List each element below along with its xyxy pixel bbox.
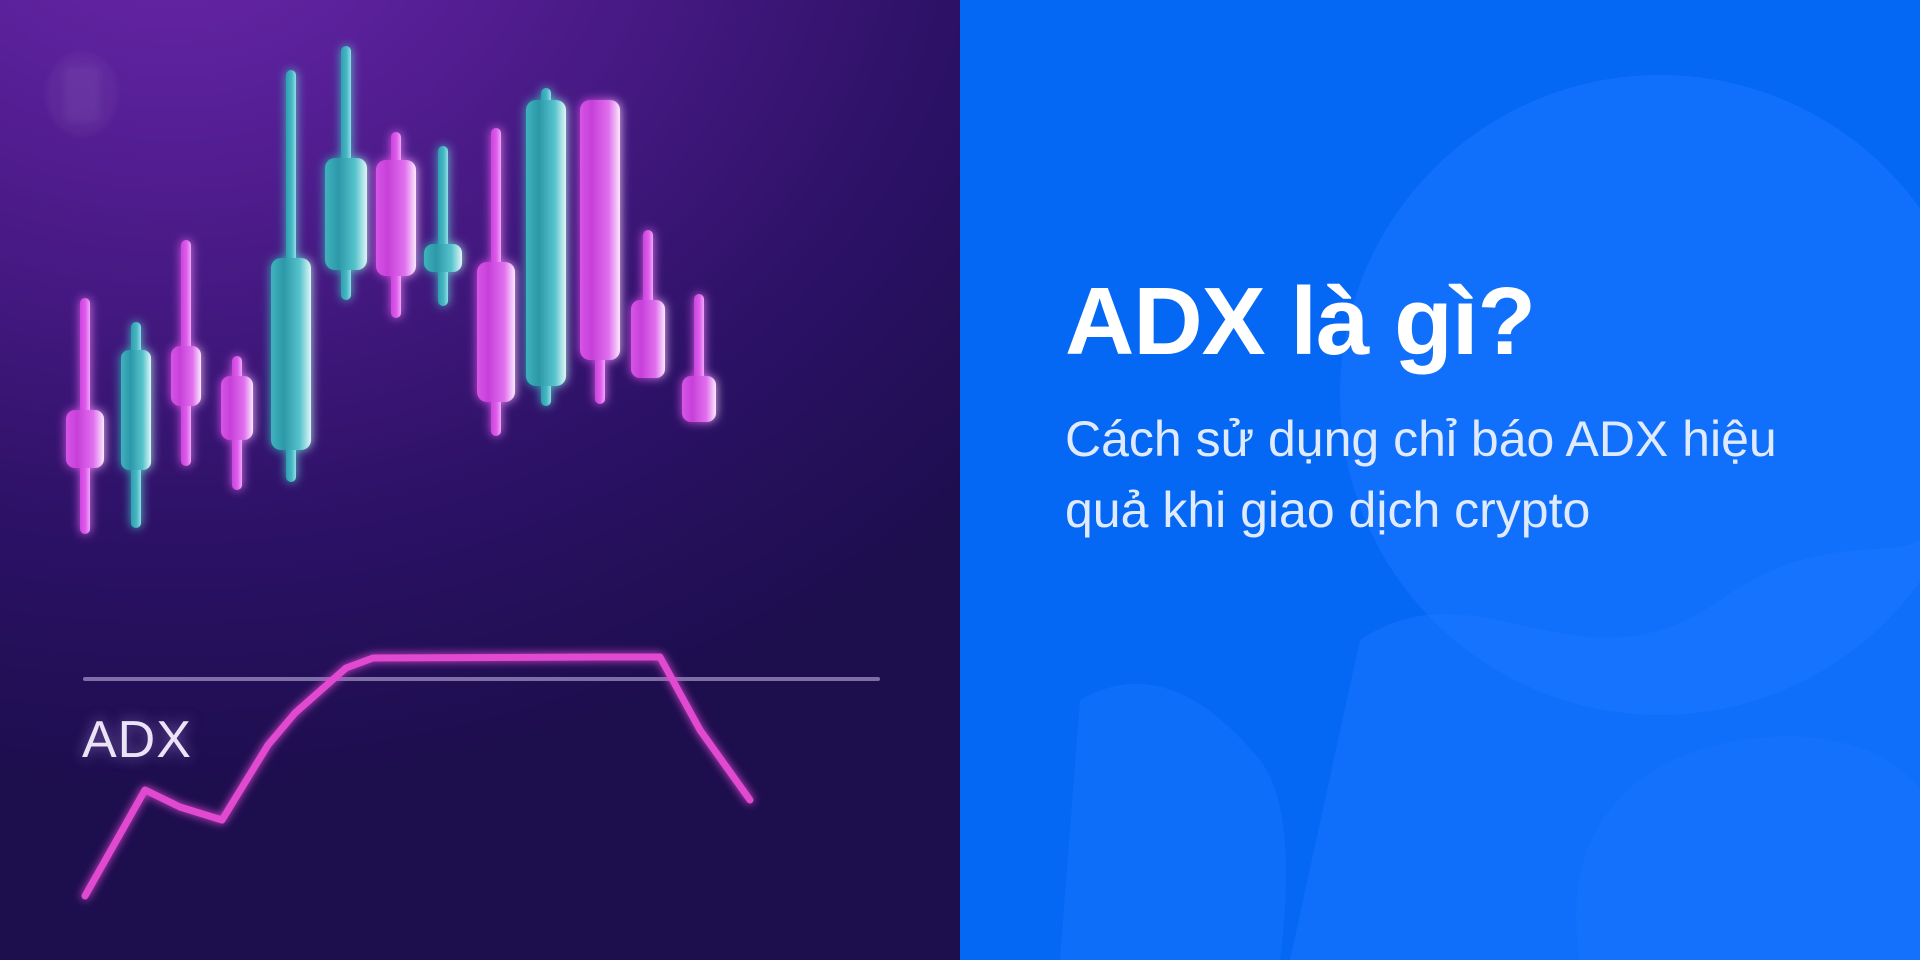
adx-chart-label: ADX <box>82 714 192 766</box>
poster-canvas: ADX ADX là gì? Cách sử dụng chỉ báo ADX … <box>0 0 1920 960</box>
artwork-panel: ADX <box>0 0 960 960</box>
candle-6 <box>325 46 367 300</box>
candle-2 <box>121 322 151 528</box>
candle-1 <box>66 298 104 534</box>
headline-block: ADX là gì? Cách sử dụng chỉ báo ADX hiệu… <box>1065 272 1865 546</box>
page-title: ADX là gì? <box>1065 272 1865 372</box>
candle-8 <box>424 146 462 306</box>
candle-11 <box>580 100 620 404</box>
candle-5 <box>271 70 311 482</box>
candlestick-series <box>66 46 716 534</box>
candle-4 <box>221 356 253 490</box>
candle-10 <box>526 88 566 406</box>
candle-13 <box>682 294 716 422</box>
page-subtitle: Cách sử dụng chỉ báo ADX hiệu quả khi gi… <box>1065 404 1805 546</box>
trading-chart-illustration <box>0 0 960 960</box>
candle-12 <box>631 230 665 378</box>
candle-3 <box>171 240 201 466</box>
candle-9 <box>477 128 515 436</box>
deco-pillar <box>1060 684 1286 960</box>
adx-indicator-line <box>85 657 750 896</box>
text-panel: ADX là gì? Cách sử dụng chỉ báo ADX hiệu… <box>960 0 1920 960</box>
candle-7 <box>376 132 416 318</box>
